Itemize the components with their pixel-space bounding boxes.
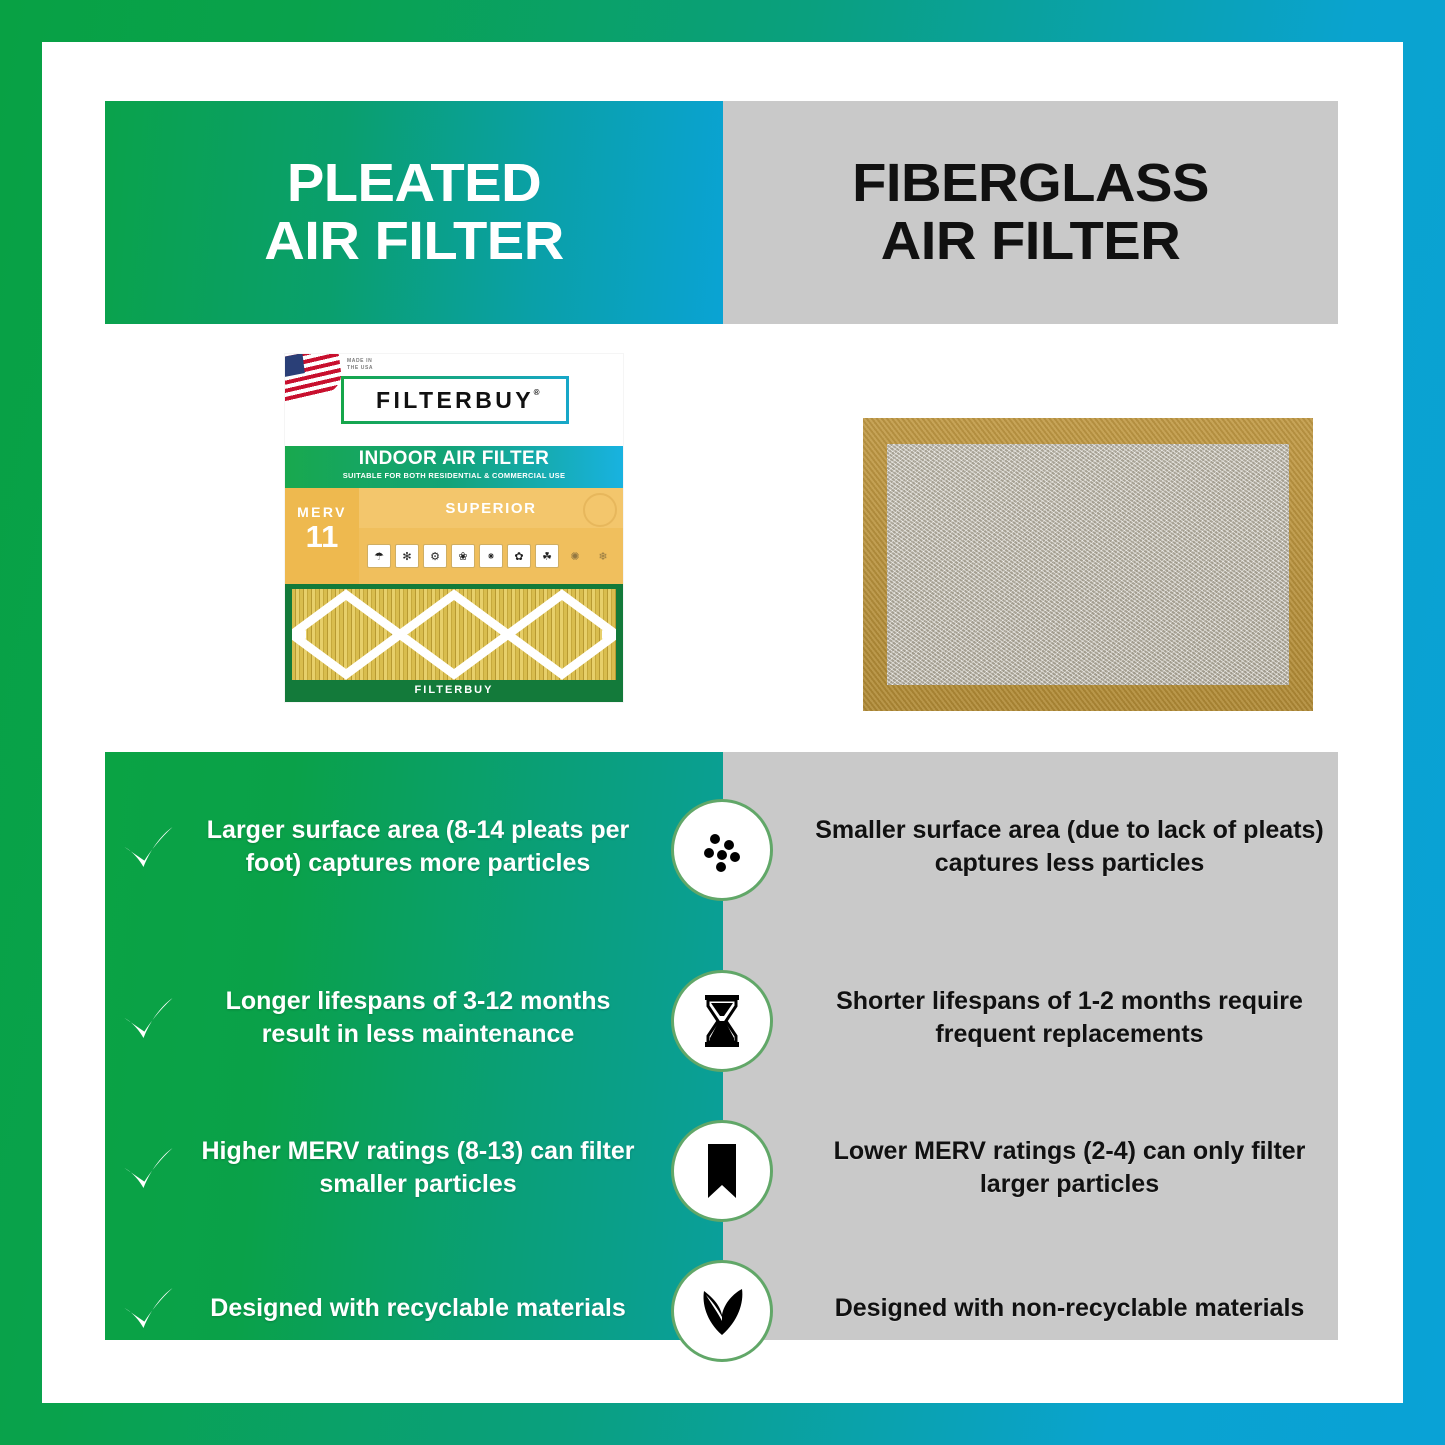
leaf-eco-icon	[671, 1260, 773, 1362]
header-pleated-line1: PLEATED	[264, 155, 563, 212]
header-fiberglass: FIBERGLASS AIR FILTER	[723, 101, 1338, 324]
row2-pleated-text: Longer lifespans of 3-12 months result i…	[191, 985, 645, 1051]
band-line1: INDOOR AIR FILTER	[285, 449, 623, 470]
box-top-white-area: MADE IN THE USA FILTERBUY®	[285, 354, 623, 446]
header-fiberglass-line2: AIR FILTER	[852, 213, 1209, 270]
row1-fiberglass-text: Smaller surface area (due to lack of ple…	[801, 814, 1338, 880]
checkmark-icon	[105, 1139, 191, 1197]
header-row: PLEATED AIR FILTER FIBERGLASS AIR FILTER	[105, 101, 1338, 324]
merv-label: MERV	[285, 504, 359, 520]
made-in-line2: THE USA	[347, 365, 373, 372]
product-images-row: MADE IN THE USA FILTERBUY® INDOOR AIR FI…	[105, 342, 1338, 742]
checkmark-icon	[105, 989, 191, 1047]
row4-pleated-text: Designed with recyclable materials	[191, 1292, 645, 1325]
row1-left-cell: Larger surface area (8-14 pleats per foo…	[105, 814, 723, 880]
merv-gold-section: MERV 11 SUPERIOR ☂ ✻ ⚙ ❀ ⁕ ✿ ☘ ✺ ❄	[285, 488, 623, 584]
checkmark-icon	[105, 818, 191, 876]
merv-badge: MERV 11	[285, 488, 359, 584]
feature-icon-allergens: ☘	[535, 544, 559, 568]
ul-certification-icon	[583, 493, 617, 527]
row4-fiberglass-text: Designed with non-recyclable materials	[801, 1292, 1338, 1325]
made-in-usa-text: MADE IN THE USA	[347, 358, 373, 373]
merv-value: 11	[285, 521, 359, 552]
checkmark-icon	[105, 1279, 191, 1337]
feature-icon-pollen: ✻	[395, 544, 419, 568]
row3-pleated-text: Higher MERV ratings (8-13) can filter sm…	[191, 1135, 645, 1201]
fiberglass-media-texture	[887, 444, 1289, 685]
header-fiberglass-line1: FIBERGLASS	[852, 155, 1209, 212]
box-footer-brand: FILTERBUY	[285, 680, 623, 700]
table-row: Designed with recyclable materials Desig…	[105, 1248, 1338, 1368]
indoor-air-filter-band: INDOOR AIR FILTER SUITABLE FOR BOTH RESI…	[285, 446, 623, 488]
hourglass-icon	[671, 970, 773, 1072]
row3-left-cell: Higher MERV ratings (8-13) can filter sm…	[105, 1135, 723, 1201]
pleated-media-area: FILTERBUY	[285, 584, 623, 702]
header-pleated: PLEATED AIR FILTER	[105, 101, 723, 324]
feature-icon-pet-dander: ✿	[507, 544, 531, 568]
feature-icon-mold: ❀	[451, 544, 475, 568]
row4-left-cell: Designed with recyclable materials	[105, 1279, 723, 1337]
feature-icon-bacteria: ⚙	[423, 544, 447, 568]
infographic-root: PLEATED AIR FILTER FIBERGLASS AIR FILTER…	[0, 0, 1445, 1445]
row2-fiberglass-text: Shorter lifespans of 1-2 months require …	[801, 985, 1338, 1051]
table-row: Longer lifespans of 3-12 months result i…	[105, 958, 1338, 1078]
support-grid-diamonds	[292, 589, 616, 680]
band-line2: SUITABLE FOR BOTH RESIDENTIAL & COMMERCI…	[285, 471, 623, 480]
row2-left-cell: Longer lifespans of 3-12 months result i…	[105, 985, 723, 1051]
row3-fiberglass-text: Lower MERV ratings (2-4) can only filter…	[801, 1135, 1338, 1201]
feature-icon-dust: ☂	[367, 544, 391, 568]
row3-right-cell: Lower MERV ratings (2-4) can only filter…	[723, 1135, 1338, 1201]
filterbuy-logo: FILTERBUY®	[341, 376, 569, 424]
bookmark-icon	[671, 1120, 773, 1222]
row1-right-cell: Smaller surface area (due to lack of ple…	[723, 814, 1338, 880]
row1-pleated-text: Larger surface area (8-14 pleats per foo…	[191, 814, 645, 880]
usa-flag-icon	[285, 354, 343, 402]
fiberglass-filter-product-image	[863, 418, 1313, 711]
white-card: PLEATED AIR FILTER FIBERGLASS AIR FILTER…	[42, 42, 1403, 1403]
table-row: Higher MERV ratings (8-13) can filter sm…	[105, 1108, 1338, 1228]
comparison-rows: Larger surface area (8-14 pleats per foo…	[105, 752, 1338, 1340]
feature-icon-extra-2: ❄	[591, 544, 615, 568]
particles-icon	[671, 799, 773, 901]
pleated-filter-product-image: MADE IN THE USA FILTERBUY® INDOOR AIR FI…	[285, 354, 623, 702]
feature-icon-smoke: ⁕	[479, 544, 503, 568]
header-pleated-line2: AIR FILTER	[264, 213, 563, 270]
header-fiberglass-text: FIBERGLASS AIR FILTER	[852, 155, 1209, 269]
row4-right-cell: Designed with non-recyclable materials	[723, 1292, 1338, 1325]
filterbuy-brand-text: FILTERBUY®	[376, 387, 534, 414]
header-pleated-text: PLEATED AIR FILTER	[264, 155, 563, 269]
feature-icon-strip: ☂ ✻ ⚙ ❀ ⁕ ✿ ☘ ✺ ❄	[359, 528, 623, 584]
table-row: Larger surface area (8-14 pleats per foo…	[105, 768, 1338, 926]
feature-icon-extra-1: ✺	[563, 544, 587, 568]
row2-right-cell: Shorter lifespans of 1-2 months require …	[723, 985, 1338, 1051]
made-in-line1: MADE IN	[347, 358, 373, 365]
